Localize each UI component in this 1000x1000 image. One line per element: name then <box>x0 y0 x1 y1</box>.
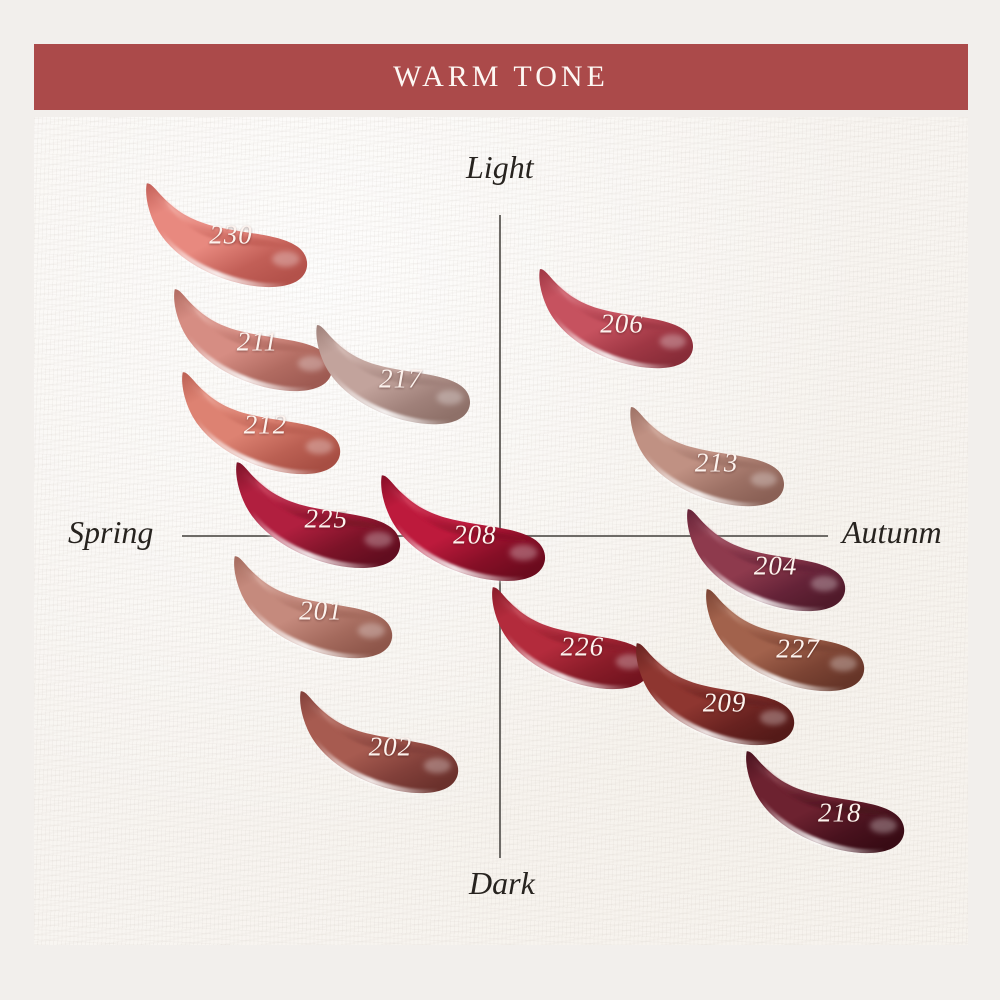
header-banner: WARM TONE <box>34 44 968 110</box>
lip-swatch: 213 <box>622 404 794 509</box>
swatch-shape <box>140 180 315 290</box>
lip-swatch: 218 <box>740 748 912 856</box>
chart-canvas: Light Dark Spring Autunm 230211217212225… <box>34 117 968 945</box>
swatch-shape <box>228 553 400 661</box>
swatch-specular <box>424 758 451 773</box>
axis-label-light: Light <box>466 149 534 186</box>
lip-shade-chart-page: WARM TONE Light Dark Spring Autunm 23021… <box>0 0 1000 1000</box>
axis-label-autumn: Autunm <box>842 514 942 551</box>
lip-swatch: 202 <box>294 688 466 796</box>
swatch-shape <box>622 404 794 509</box>
swatch-specular <box>437 390 463 405</box>
swatch-specular <box>306 439 333 454</box>
swatch-specular <box>751 472 777 487</box>
lip-swatch: 209 <box>630 640 802 748</box>
swatch-shape <box>534 266 700 371</box>
lip-swatch: 206 <box>534 266 700 371</box>
lip-swatch: 230 <box>140 180 315 290</box>
axis-label-dark: Dark <box>469 865 535 902</box>
swatch-specular <box>358 623 385 638</box>
swatch-specular <box>272 251 300 266</box>
swatch-shape <box>630 640 802 748</box>
page-title: WARM TONE <box>393 60 609 94</box>
swatch-shape <box>294 688 466 796</box>
swatch-specular <box>870 818 897 833</box>
lip-swatch: 201 <box>228 553 400 661</box>
swatch-specular <box>660 334 686 349</box>
axis-label-spring: Spring <box>68 514 153 551</box>
swatch-specular <box>760 710 787 725</box>
swatch-shape <box>373 472 555 584</box>
lip-swatch: 208 <box>373 472 555 584</box>
swatch-shape <box>740 748 912 856</box>
swatch-specular <box>830 656 857 671</box>
swatch-specular <box>510 545 538 561</box>
